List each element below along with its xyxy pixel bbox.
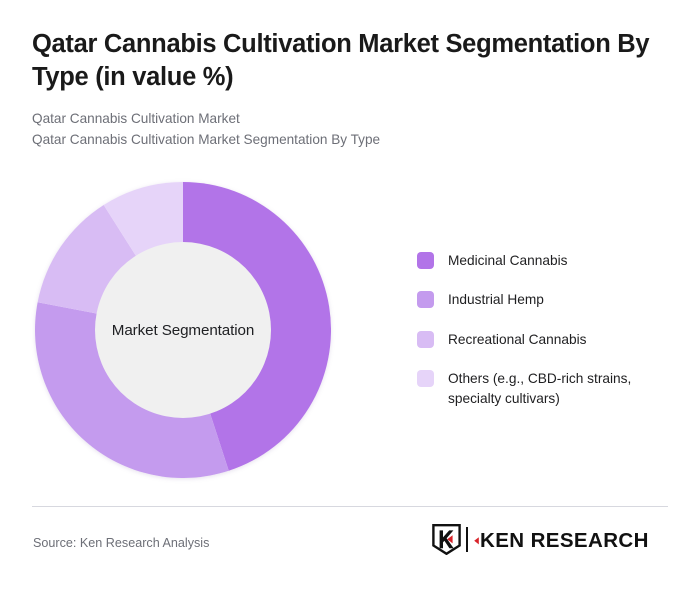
legend-item[interactable]: Recreational Cannabis	[417, 330, 677, 349]
legend-color-swatch	[417, 331, 434, 348]
legend-item-label: Others (e.g., CBD-rich strains, specialt…	[448, 369, 677, 408]
legend-color-swatch	[417, 252, 434, 269]
footer-divider	[32, 506, 668, 507]
donut-svg	[35, 182, 331, 478]
legend-item[interactable]: Medicinal Cannabis	[417, 251, 677, 270]
source-note: Source: Ken Research Analysis	[33, 536, 209, 550]
legend: Medicinal CannabisIndustrial HempRecreat…	[417, 251, 677, 408]
subtitle-line-2: Qatar Cannabis Cultivation Market Segmen…	[32, 130, 668, 151]
brand-wordmark-text: KEN RESEARCH	[480, 529, 649, 552]
chart-area: Market Segmentation Medicinal CannabisIn…	[0, 166, 700, 496]
legend-color-swatch	[417, 291, 434, 308]
ken-research-wordmark: KEN RESEARCH	[474, 528, 670, 552]
chart-card: Qatar Cannabis Cultivation Market Segmen…	[0, 0, 700, 591]
brand-separator	[466, 527, 468, 552]
legend-color-swatch	[417, 370, 434, 387]
legend-item[interactable]: Industrial Hemp	[417, 290, 677, 309]
legend-item-label: Recreational Cannabis	[448, 330, 586, 349]
donut-chart: Market Segmentation	[35, 182, 331, 478]
legend-item-label: Industrial Hemp	[448, 290, 544, 309]
subtitle-line-1: Qatar Cannabis Cultivation Market	[32, 109, 668, 130]
page-title: Qatar Cannabis Cultivation Market Segmen…	[32, 28, 668, 93]
legend-item-label: Medicinal Cannabis	[448, 251, 567, 270]
brand-logo: KEN RESEARCH	[432, 524, 670, 555]
legend-item[interactable]: Others (e.g., CBD-rich strains, specialt…	[417, 369, 677, 408]
header: Qatar Cannabis Cultivation Market Segmen…	[32, 28, 668, 151]
subtitle-block: Qatar Cannabis Cultivation Market Qatar …	[32, 109, 668, 151]
donut-hole	[95, 242, 271, 418]
ken-research-shield-icon	[432, 524, 461, 555]
